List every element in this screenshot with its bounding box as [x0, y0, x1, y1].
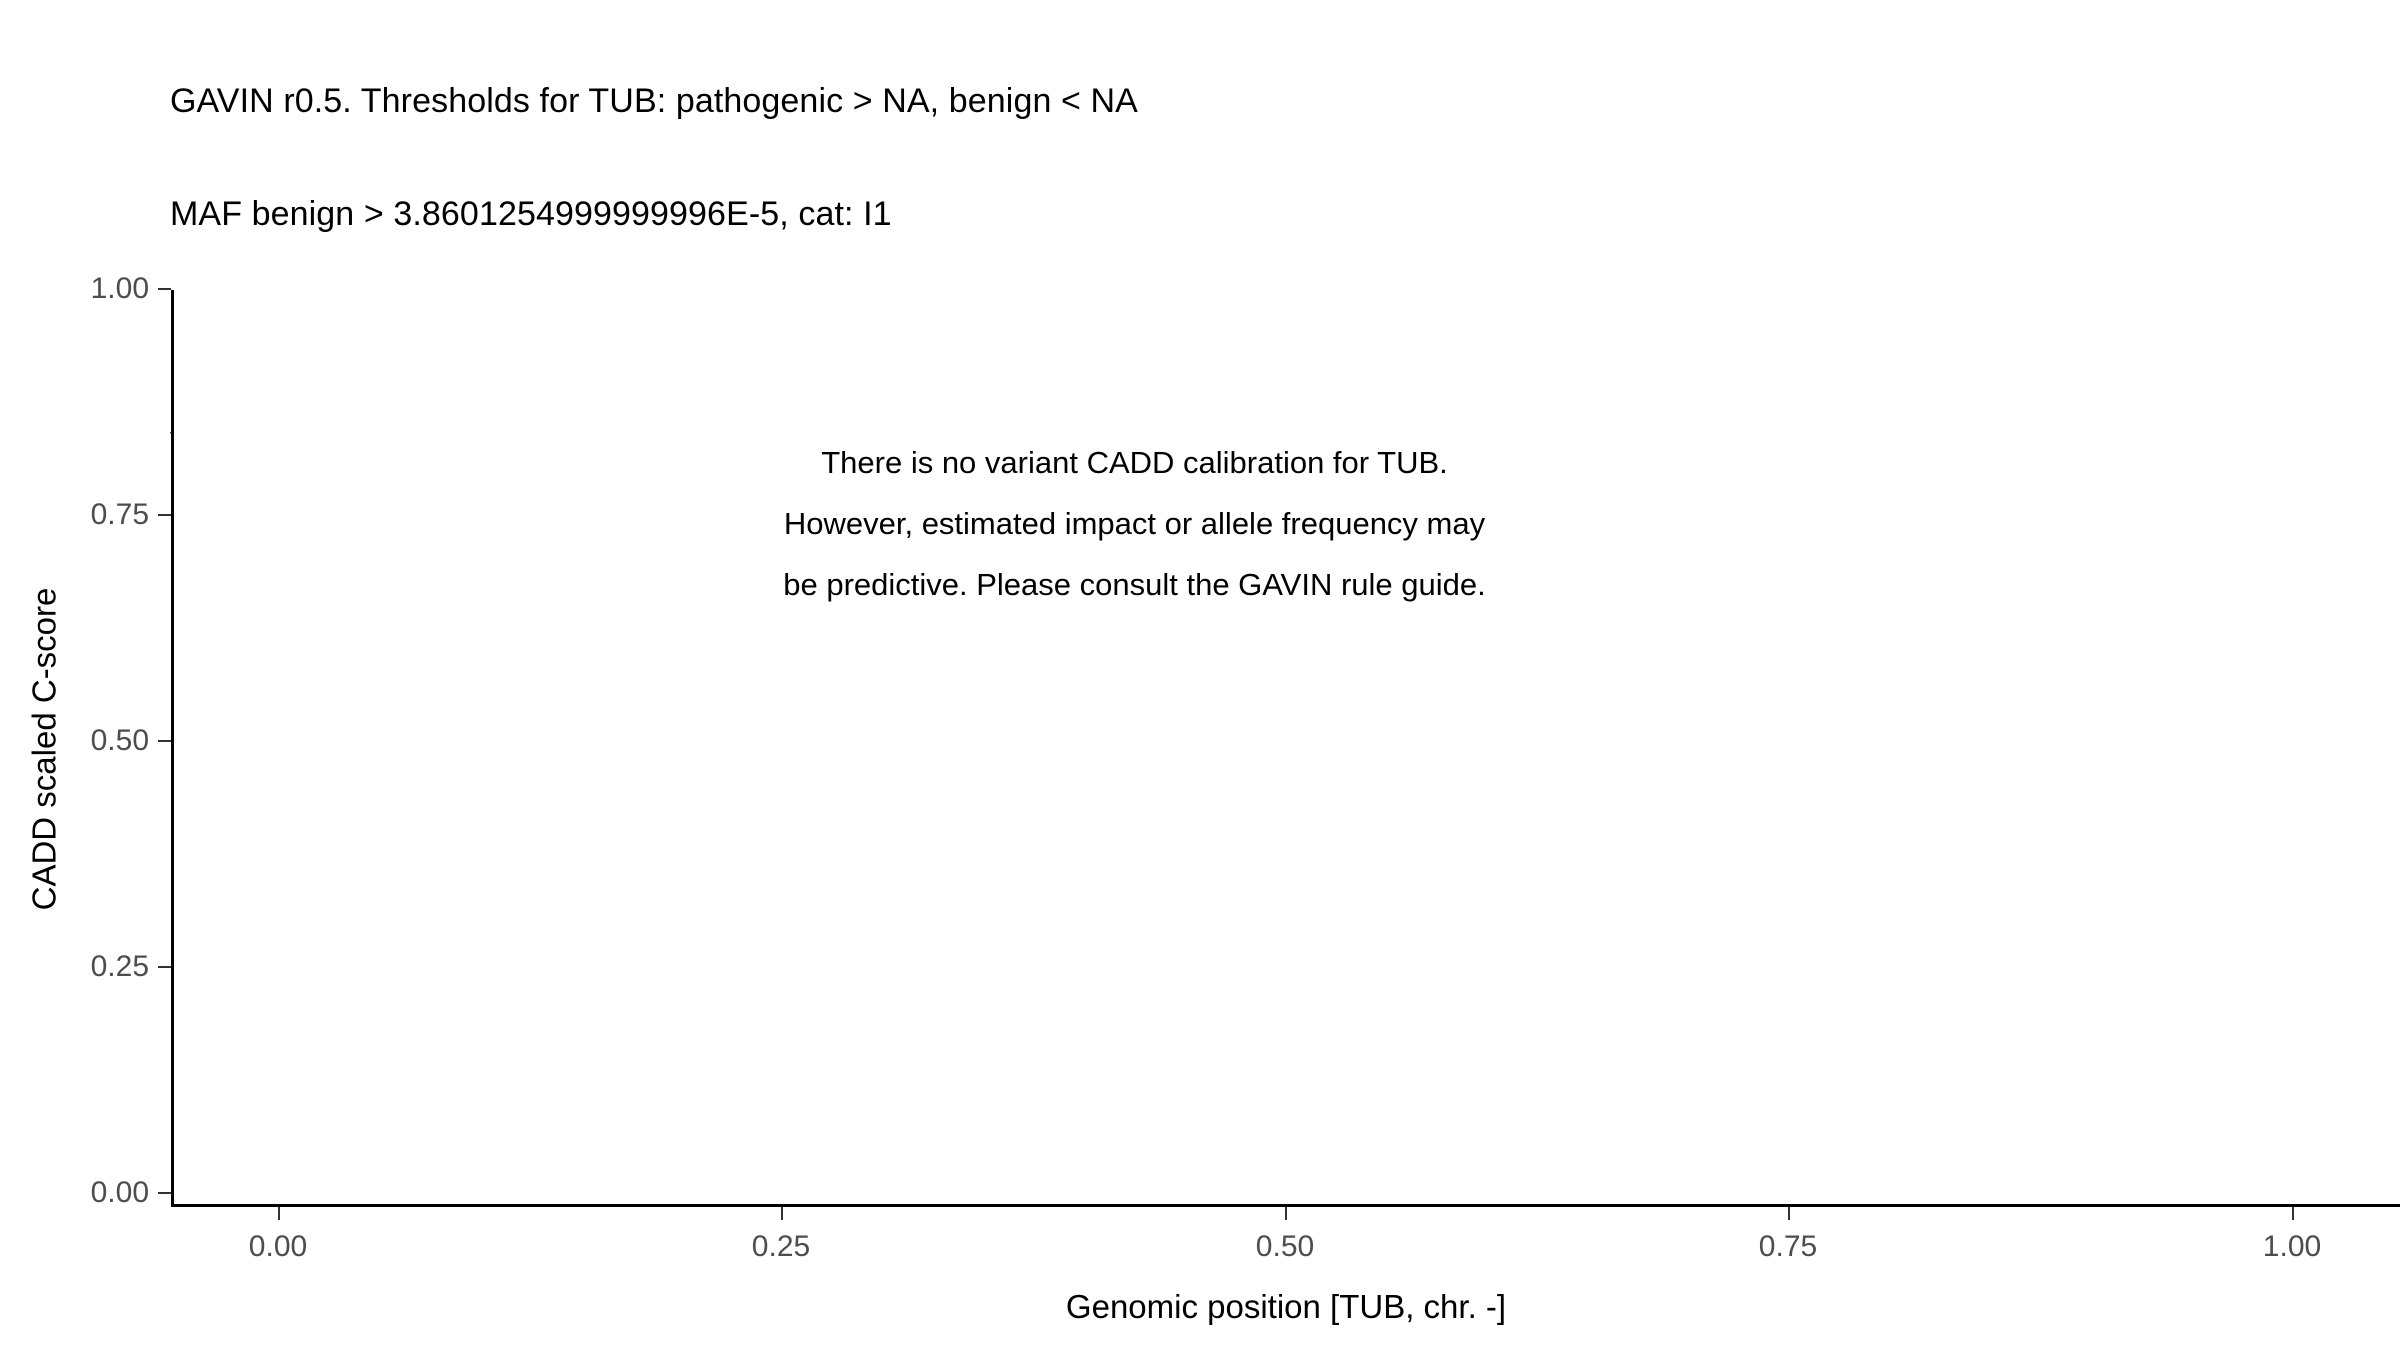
annotation-line-3: be predictive. Please consult the GAVIN …: [172, 554, 2097, 615]
x-tick-mark-0: [278, 1207, 280, 1220]
y-tick-label-4: 1.00: [91, 274, 149, 304]
y-tick-label-2: 0.50: [91, 726, 149, 756]
y-tick-label-1: 0.25: [91, 952, 149, 982]
y-tick-label-3: 0.75: [91, 500, 149, 530]
x-axis-title: Genomic position [TUB, chr. -]: [172, 1288, 2400, 1326]
x-tick-mark-4: [2292, 1207, 2294, 1220]
y-tick-mark-0: [158, 1192, 171, 1194]
x-tick-mark-3: [1788, 1207, 1790, 1220]
x-tick-label-0: 0.00: [249, 1232, 307, 1262]
annotation-line-2: However, estimated impact or allele freq…: [172, 493, 2097, 554]
y-tick-mark-1: [158, 966, 171, 968]
x-tick-label-1: 0.25: [752, 1232, 810, 1262]
no-calibration-annotation: There is no variant CADD calibration for…: [172, 432, 2097, 615]
x-tick-label-3: 0.75: [1759, 1232, 1817, 1262]
x-tick-label-2: 0.50: [1256, 1232, 1314, 1262]
y-tick-mark-2: [158, 740, 171, 742]
y-tick-mark-3: [158, 514, 171, 516]
chart-title-line-2: MAF benign > 3.8601254999999996E-5, cat:…: [170, 196, 2350, 234]
y-tick-mark-4: [158, 288, 171, 290]
plot-panel: There is no variant CADD calibration for…: [172, 292, 2400, 1205]
x-tick-mark-2: [1285, 1207, 1287, 1220]
y-axis-title: CADD scaled C-score: [22, 293, 68, 1206]
x-tick-mark-1: [781, 1207, 783, 1220]
y-tick-label-0: 0.00: [91, 1178, 149, 1208]
chart-title-line-1: GAVIN r0.5. Thresholds for TUB: pathogen…: [170, 83, 2350, 121]
y-axis-line: [171, 290, 174, 1207]
x-tick-label-4: 1.00: [2263, 1232, 2321, 1262]
chart-canvas: GAVIN r0.5. Thresholds for TUB: pathogen…: [0, 0, 2400, 1350]
annotation-line-1: There is no variant CADD calibration for…: [172, 432, 2097, 493]
